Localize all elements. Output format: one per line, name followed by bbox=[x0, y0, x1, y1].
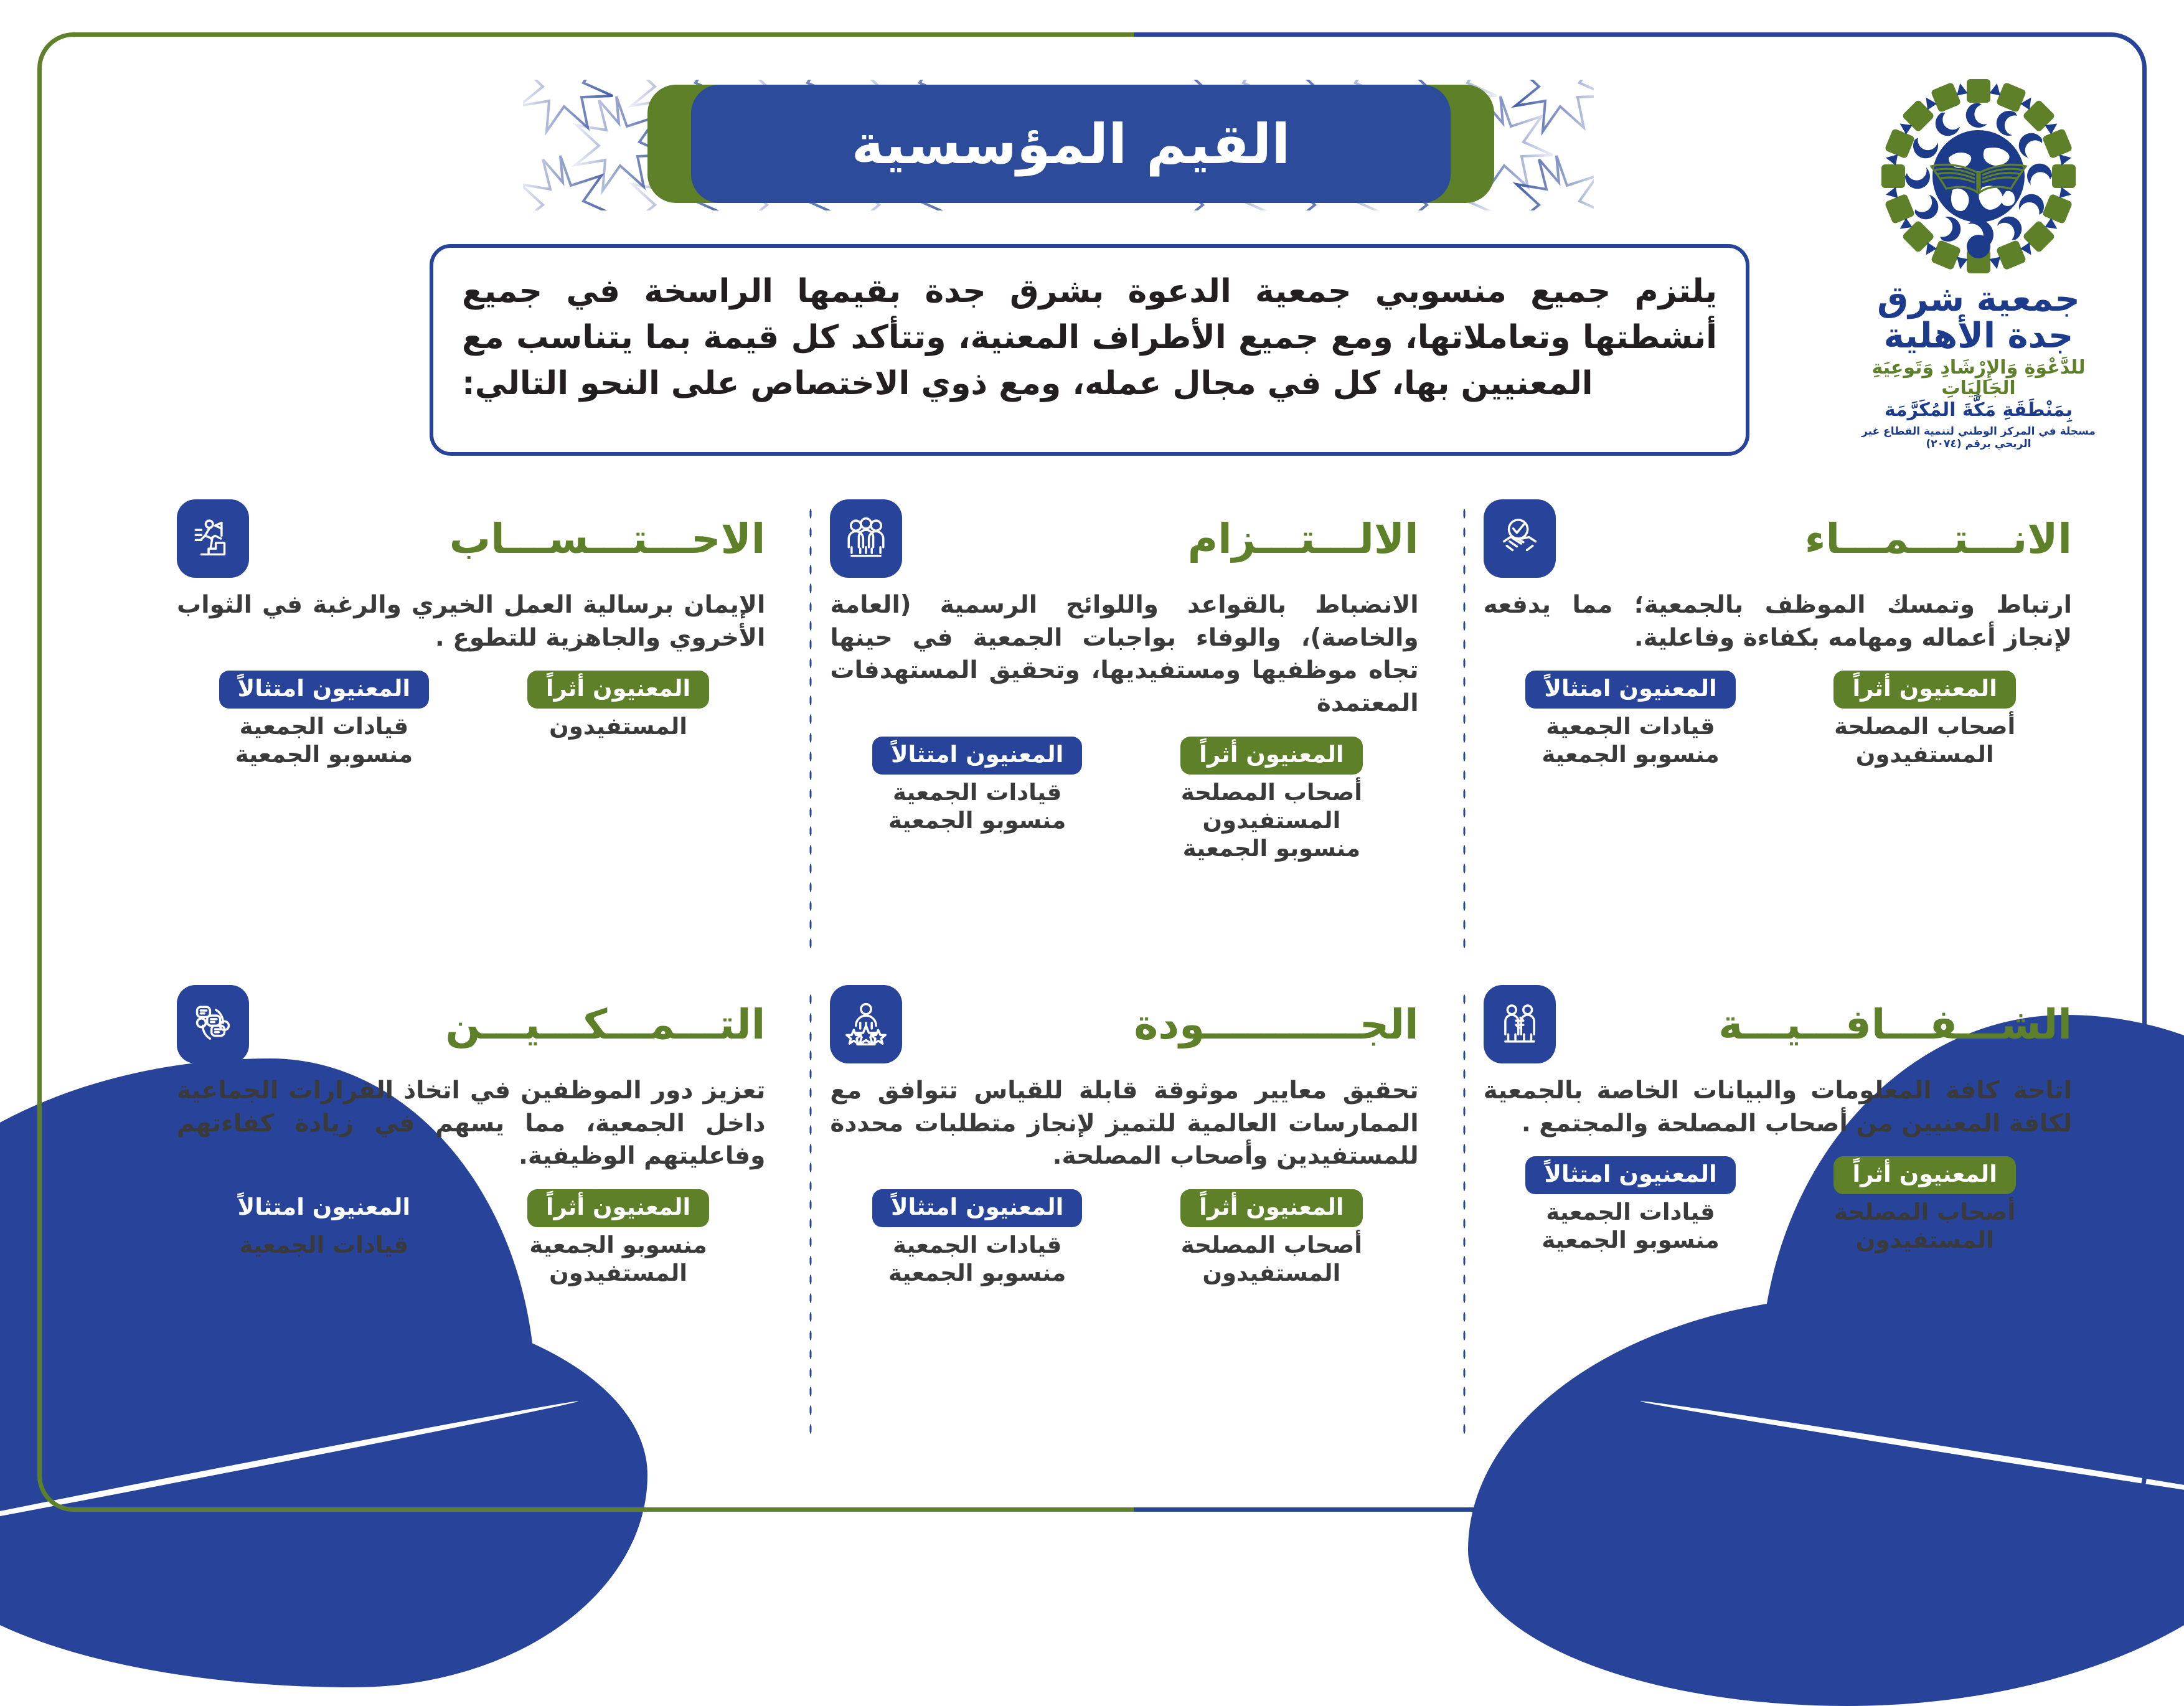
impact-list: أصحاب المصلحة المستفيدون bbox=[1124, 1231, 1419, 1287]
list-item: منسوبو الجمعية bbox=[830, 806, 1124, 834]
impact-pill: المعنيون أثراً bbox=[1180, 1189, 1362, 1227]
compliance-column: المعنيون امتثالاً قيادات الجمعية منسوبو … bbox=[830, 737, 1124, 862]
compliance-column: المعنيون امتثالاً قيادات الجمعية منسوبو … bbox=[1484, 671, 1778, 768]
value-card-header: الالـــتـــزام bbox=[830, 498, 1418, 579]
value-title: الاحـــتـــســـاب bbox=[265, 515, 765, 563]
compliance-pill: المعنيون امتثالاً bbox=[219, 671, 429, 709]
value-stakeholder-tags: المعنيون امتثالاً قيادات الجمعية منسوبو … bbox=[830, 1189, 1418, 1287]
compliance-list: قيادات الجمعية منسوبو الجمعية bbox=[830, 1231, 1124, 1287]
impact-column: المعنيون أثراً أصحاب المصلحة المستفيدون bbox=[1777, 671, 2072, 768]
handshake-check-icon bbox=[1484, 499, 1556, 578]
impact-list: منسوبو الجمعية المستفيدون bbox=[471, 1231, 766, 1287]
compliance-list: قيادات الجمعية منسوبو الجمعية bbox=[177, 712, 471, 768]
value-card-header: الجـــــــــــودة bbox=[830, 984, 1418, 1065]
value-title: الانـــتـــمـــاء bbox=[1572, 515, 2072, 563]
list-item: قيادات الجمعية bbox=[177, 712, 471, 740]
value-description: اتاحة كافة المعلومات والبيانات الخاصة با… bbox=[1484, 1075, 2072, 1140]
compliance-column: المعنيون امتثالاً قيادات الجمعية bbox=[177, 1189, 471, 1287]
value-description: تحقيق معايير موثوقة قابلة للقياس تتوافق … bbox=[830, 1075, 1418, 1173]
poster-sheet: القيم المؤسسية bbox=[0, 0, 2184, 1544]
value-card-intima[interactable]: الانـــتـــمـــاء ارتباط وتمسك الموظف با… bbox=[1462, 498, 2072, 946]
impact-column: المعنيون أثراً أصحاب المصلحة المستفيدون bbox=[1777, 1156, 2072, 1254]
value-card-header: الانـــتـــمـــاء bbox=[1484, 498, 2072, 579]
logo-name-line3: بِمَنْطَقَةِ مَكَّةَ المُكَرَّمَة bbox=[1842, 400, 2116, 420]
impact-column: المعنيون أثراً المستفيدون bbox=[471, 671, 766, 768]
impact-list: أصحاب المصلحة المستفيدون منسوبو الجمعية bbox=[1124, 778, 1419, 862]
compliance-column: المعنيون امتثالاً قيادات الجمعية منسوبو … bbox=[830, 1189, 1124, 1287]
connected-chat-network-icon bbox=[177, 985, 249, 1063]
impact-pill: المعنيون أثراً bbox=[527, 1189, 709, 1227]
list-item: قيادات الجمعية bbox=[177, 1231, 471, 1259]
value-card-tamkin[interactable]: التـــمـــكـــيـــن تعزيز دور الموظفين ف… bbox=[156, 984, 765, 1432]
impact-list: أصحاب المصلحة المستفيدون bbox=[1777, 712, 2072, 768]
compliance-list: قيادات الجمعية منسوبو الجمعية bbox=[1484, 712, 1778, 768]
value-stakeholder-tags: المعنيون امتثالاً قيادات الجمعية منسوبو … bbox=[1484, 1156, 2072, 1254]
compliance-list: قيادات الجمعية منسوبو الجمعية bbox=[1484, 1198, 1778, 1254]
list-item: قيادات الجمعية bbox=[830, 1231, 1124, 1259]
compliance-list: قيادات الجمعية منسوبو الجمعية bbox=[830, 778, 1124, 834]
value-card-header: الشـــفـــافـــيـــة bbox=[1484, 984, 2072, 1065]
value-title: التـــمـــكـــيـــن bbox=[265, 1001, 765, 1049]
list-item: أصحاب المصلحة bbox=[1124, 778, 1419, 806]
list-item: المستفيدون bbox=[1777, 740, 2072, 768]
list-item: منسوبو الجمعية bbox=[177, 740, 471, 768]
intro-statement-text: يلتزم جميع منسوبي جمعية الدعوة بشرق جدة … bbox=[462, 269, 1717, 407]
intro-statement-box: يلتزم جميع منسوبي جمعية الدعوة بشرق جدة … bbox=[430, 244, 1749, 456]
list-item: منسوبو الجمعية bbox=[471, 1231, 766, 1259]
value-card-header: التـــمـــكـــيـــن bbox=[177, 984, 765, 1065]
value-card-ehtisab[interactable]: الاحـــتـــســـاب الإيمان برسالية العمل … bbox=[156, 498, 765, 946]
list-item: المستفيدون bbox=[471, 712, 766, 740]
logo-registration-note: مسجلة في المركز الوطني لتنمية القطاع غير… bbox=[1842, 425, 2116, 450]
values-grid: الانـــتـــمـــاء ارتباط وتمسك الموظف با… bbox=[156, 498, 2072, 1432]
impact-pill: المعنيون أثراً bbox=[1833, 1156, 2015, 1194]
value-card-header: الاحـــتـــســـاب bbox=[177, 498, 765, 579]
impact-column: المعنيون أثراً أصحاب المصلحة المستفيدون bbox=[1124, 1189, 1419, 1287]
compliance-pill: المعنيون امتثالاً bbox=[1525, 671, 1735, 709]
list-item: قيادات الجمعية bbox=[830, 778, 1124, 806]
value-stakeholder-tags: المعنيون امتثالاً قيادات الجمعية منسوبو … bbox=[1484, 671, 2072, 768]
compliance-column: المعنيون امتثالاً قيادات الجمعية منسوبو … bbox=[1484, 1156, 1778, 1254]
list-item: المستفيدون bbox=[1124, 1259, 1419, 1287]
list-item: منسوبو الجمعية bbox=[1484, 1226, 1778, 1254]
list-item: المستفيدون bbox=[1124, 806, 1419, 834]
compliance-pill: المعنيون امتثالاً bbox=[872, 1189, 1082, 1227]
impact-pill: المعنيون أثراً bbox=[1833, 671, 2015, 709]
compliance-pill: المعنيون امتثالاً bbox=[219, 1189, 429, 1227]
compliance-pill: المعنيون امتثالاً bbox=[872, 737, 1082, 775]
value-description: تعزيز دور الموظفين في اتخاذ القرارات الج… bbox=[177, 1075, 765, 1173]
value-title: الالـــتـــزام bbox=[918, 515, 1418, 563]
list-item: أصحاب المصلحة bbox=[1124, 1231, 1419, 1259]
list-item: قيادات الجمعية bbox=[1484, 712, 1778, 740]
list-item: أصحاب المصلحة bbox=[1777, 712, 2072, 740]
impact-column: المعنيون أثراً أصحاب المصلحة المستفيدون … bbox=[1124, 737, 1419, 862]
impact-list: المستفيدون bbox=[471, 712, 766, 740]
value-card-iltizam[interactable]: الالـــتـــزام الانضباط بالقواعد واللوائ… bbox=[809, 498, 1418, 946]
compliance-column: المعنيون امتثالاً قيادات الجمعية منسوبو … bbox=[177, 671, 471, 768]
impact-column: المعنيون أثراً منسوبو الجمعية المستفيدون bbox=[471, 1189, 766, 1287]
value-stakeholder-tags: المعنيون امتثالاً قيادات الجمعية المعنيو… bbox=[177, 1189, 765, 1287]
logo-name-line1: جمعية شرق جدة الأهلية bbox=[1842, 281, 2116, 355]
value-title: الجـــــــــــودة bbox=[918, 1001, 1418, 1049]
compliance-pill: المعنيون امتثالاً bbox=[1525, 1156, 1735, 1194]
value-stakeholder-tags: المعنيون امتثالاً قيادات الجمعية منسوبو … bbox=[830, 737, 1418, 862]
group-of-people-icon bbox=[830, 499, 902, 578]
page-title: القيم المؤسسية bbox=[852, 112, 1291, 176]
page-title-banner: القيم المؤسسية bbox=[691, 85, 1451, 203]
list-item: منسوبو الجمعية bbox=[1124, 834, 1419, 862]
person-climbing-stairs-icon bbox=[177, 499, 249, 578]
value-description: الإيمان برسالية العمل الخيري والرغبة في … bbox=[177, 589, 765, 654]
impact-pill: المعنيون أثراً bbox=[1180, 737, 1362, 775]
list-item: منسوبو الجمعية bbox=[830, 1259, 1124, 1287]
globe-book-crescents-emblem-icon bbox=[1876, 73, 2081, 279]
organization-logo: جمعية شرق جدة الأهلية للدَّعْوَةِ وَالإِ… bbox=[1842, 73, 2116, 472]
two-people-exchange-icon bbox=[1484, 985, 1556, 1063]
value-card-shafafiya[interactable]: الشـــفـــافـــيـــة اتاحة كافة المعلوما… bbox=[1462, 984, 2072, 1432]
list-item: منسوبو الجمعية bbox=[1484, 740, 1778, 768]
value-card-jawda[interactable]: الجـــــــــــودة تحقيق معايير موثوقة قا… bbox=[809, 984, 1418, 1432]
value-description: الانضباط بالقواعد واللوائح الرسمية (العا… bbox=[830, 589, 1418, 720]
value-stakeholder-tags: المعنيون امتثالاً قيادات الجمعية منسوبو … bbox=[177, 671, 765, 768]
list-item: أصحاب المصلحة bbox=[1777, 1198, 2072, 1226]
compliance-list: قيادات الجمعية bbox=[177, 1231, 471, 1259]
value-title: الشـــفـــافـــيـــة bbox=[1572, 1001, 2072, 1049]
impact-pill: المعنيون أثراً bbox=[527, 671, 709, 709]
list-item: قيادات الجمعية bbox=[1484, 1198, 1778, 1226]
impact-list: أصحاب المصلحة المستفيدون bbox=[1777, 1198, 2072, 1254]
list-item: المستفيدون bbox=[471, 1259, 766, 1287]
value-description: ارتباط وتمسك الموظف بالجمعية؛ مما يدفعه … bbox=[1484, 589, 2072, 654]
list-item: المستفيدون bbox=[1777, 1226, 2072, 1254]
logo-name-line2: للدَّعْوَةِ وَالإِرْشَادِ وَتَوعِيَةِ ال… bbox=[1842, 357, 2116, 398]
person-with-stars-icon bbox=[830, 985, 902, 1063]
